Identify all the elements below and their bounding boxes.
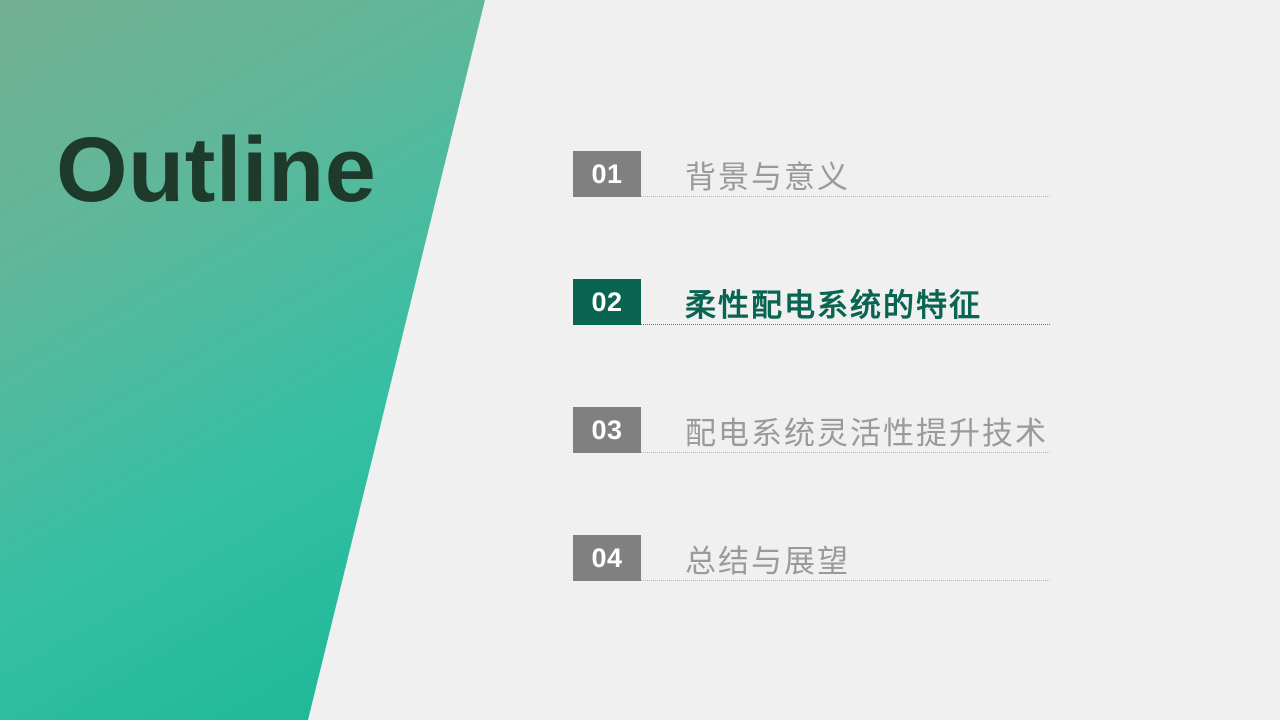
agenda-item-divider — [641, 196, 1050, 197]
agenda-number-badge: 04 — [573, 535, 641, 581]
page-title: Outline — [56, 118, 376, 224]
agenda-item-divider — [641, 580, 1050, 581]
outline-slide: Outline 01 背景与意义 02 柔性配电系统的特征 03 配电系统灵活性… — [0, 0, 1280, 720]
agenda-item-label: 配电系统灵活性提升技术 — [685, 407, 1048, 453]
agenda-list: 01 背景与意义 02 柔性配电系统的特征 03 配电系统灵活性提升技术 04 … — [573, 151, 1053, 581]
agenda-item-label: 总结与展望 — [685, 535, 850, 581]
agenda-number-badge: 03 — [573, 407, 641, 453]
agenda-item-label: 柔性配电系统的特征 — [685, 279, 982, 325]
agenda-item-01[interactable]: 01 背景与意义 — [573, 151, 1053, 197]
agenda-item-04[interactable]: 04 总结与展望 — [573, 535, 1053, 581]
agenda-number-badge: 02 — [573, 279, 641, 325]
agenda-item-03[interactable]: 03 配电系统灵活性提升技术 — [573, 407, 1053, 453]
agenda-item-divider — [641, 324, 1050, 325]
agenda-item-02[interactable]: 02 柔性配电系统的特征 — [573, 279, 1053, 325]
decorative-gradient-shape — [0, 0, 500, 720]
agenda-item-label: 背景与意义 — [685, 151, 850, 197]
agenda-item-divider — [641, 452, 1050, 453]
agenda-number-badge: 01 — [573, 151, 641, 197]
